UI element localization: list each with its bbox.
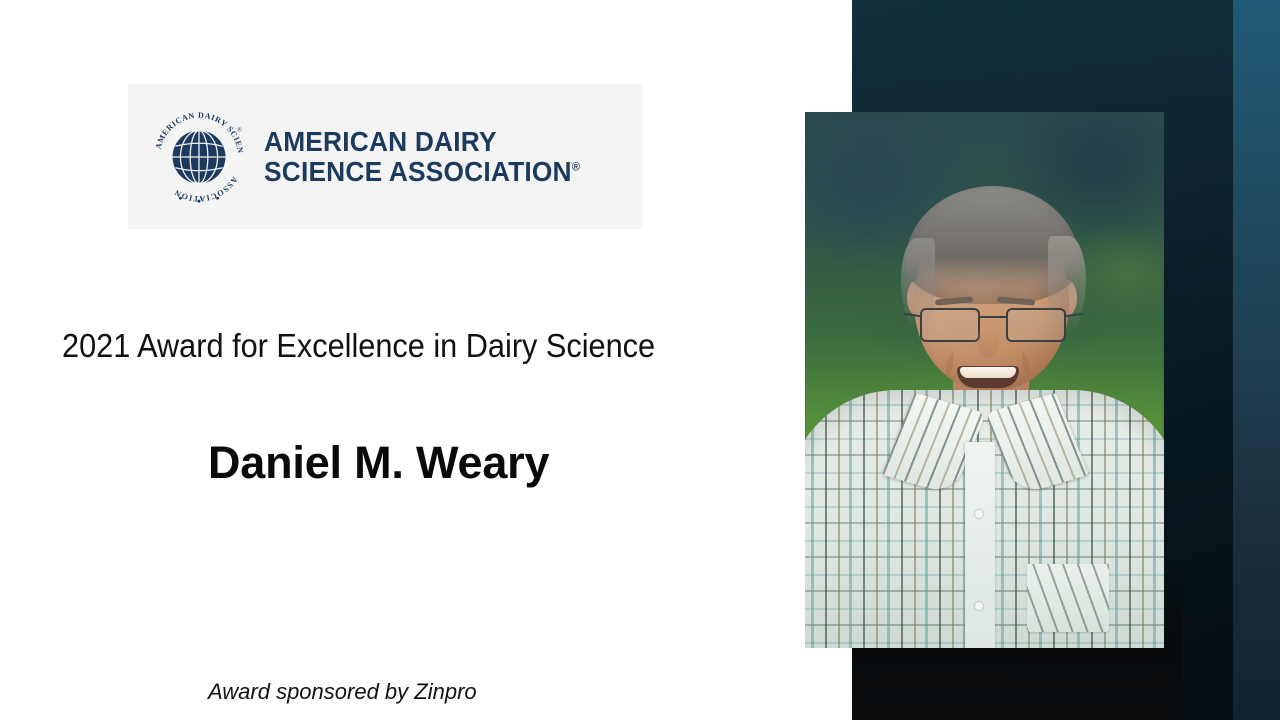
subject-shirt-pocket <box>1027 564 1109 632</box>
association-logo: AMERICAN DAIRY SCIENCE ASSOCIATION ® AME… <box>128 84 643 229</box>
subject-shirt-button-upper <box>975 510 983 518</box>
award-title: 2021 Award for Excellence in Dairy Scien… <box>62 327 713 365</box>
recipient-portrait <box>805 112 1164 648</box>
award-slide: AMERICAN DAIRY SCIENCE ASSOCIATION ® AME… <box>0 0 1280 720</box>
subject-shirt-placket <box>965 442 995 648</box>
subject-mouth <box>957 366 1019 388</box>
glasses-bridge <box>980 316 1006 318</box>
svg-text:®: ® <box>237 126 242 133</box>
registered-mark: ® <box>572 159 581 173</box>
portrait-subject <box>805 112 1164 648</box>
logo-wordmark: AMERICAN DAIRY SCIENCE ASSOCIATION® <box>264 127 600 186</box>
panel-accent-stripe-shade <box>1233 0 1280 720</box>
glasses-lens-left <box>920 308 980 342</box>
logo-wordmark-line-1: AMERICAN DAIRY <box>264 127 580 156</box>
logo-wordmark-line-2-text: SCIENCE ASSOCIATION <box>264 156 572 187</box>
subject-teeth <box>960 367 1016 378</box>
subject-nose <box>977 326 999 358</box>
panel-accent-stripe <box>1233 0 1280 720</box>
globe-icon: AMERICAN DAIRY SCIENCE ASSOCIATION ® <box>150 108 248 206</box>
logo-wordmark-line-2: SCIENCE ASSOCIATION® <box>264 157 580 186</box>
recipient-name: Daniel M. Weary <box>208 437 549 489</box>
subject-shirt-button-lower <box>975 602 983 610</box>
glasses-lens-right <box>1006 308 1066 342</box>
sponsor-credit: Award sponsored by Zinpro <box>208 679 477 705</box>
